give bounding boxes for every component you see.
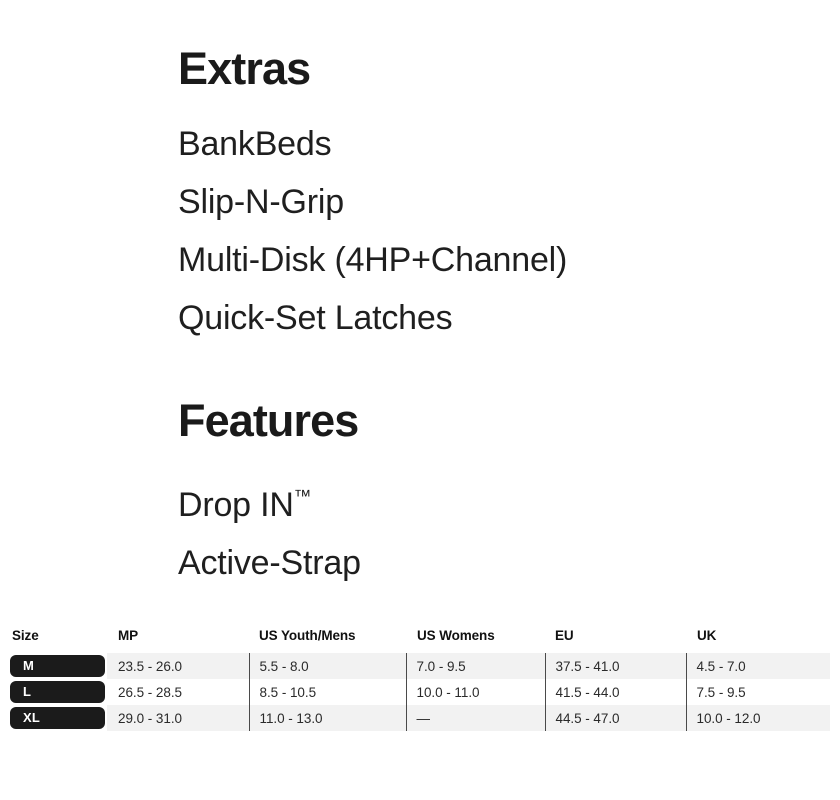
eu-cell: 41.5 - 44.0	[545, 679, 686, 705]
list-item: Multi-Disk (4HP+Channel)	[178, 231, 567, 289]
column-header-us-youth-mens: US Youth/Mens	[249, 628, 406, 653]
size-badge: L	[10, 681, 105, 703]
features-section: Features Drop IN™ Active-Strap	[178, 398, 361, 592]
size-badge: XL	[10, 707, 105, 729]
eu-cell: 44.5 - 47.0	[545, 705, 686, 731]
features-heading: Features	[178, 398, 361, 443]
mp-cell: 29.0 - 31.0	[107, 705, 249, 731]
table-row: XL 29.0 - 31.0 11.0 - 13.0 — 44.5 - 47.0…	[0, 705, 830, 731]
mp-cell: 26.5 - 28.5	[107, 679, 249, 705]
list-item: Active-Strap	[178, 534, 361, 592]
us-womens-cell: —	[406, 705, 545, 731]
extras-list: BankBeds Slip-N-Grip Multi-Disk (4HP+Cha…	[178, 115, 567, 347]
us-youth-mens-cell: 5.5 - 8.0	[249, 653, 406, 679]
table-header-row: Size MP US Youth/Mens US Womens EU UK	[0, 628, 830, 653]
eu-cell: 37.5 - 41.0	[545, 653, 686, 679]
uk-cell: 10.0 - 12.0	[686, 705, 830, 731]
size-cell: L	[0, 679, 107, 705]
size-cell: M	[0, 653, 107, 679]
list-item: Slip-N-Grip	[178, 173, 567, 231]
uk-cell: 4.5 - 7.0	[686, 653, 830, 679]
mp-cell: 23.5 - 26.0	[107, 653, 249, 679]
extras-heading: Extras	[178, 46, 567, 91]
table-row: L 26.5 - 28.5 8.5 - 10.5 10.0 - 11.0 41.…	[0, 679, 830, 705]
column-header-eu: EU	[545, 628, 686, 653]
column-header-size: Size	[0, 628, 107, 653]
size-table-body: M 23.5 - 26.0 5.5 - 8.0 7.0 - 9.5 37.5 -…	[0, 653, 830, 731]
column-header-mp: MP	[107, 628, 249, 653]
list-item: BankBeds	[178, 115, 567, 173]
table-row: M 23.5 - 26.0 5.5 - 8.0 7.0 - 9.5 37.5 -…	[0, 653, 830, 679]
uk-cell: 7.5 - 9.5	[686, 679, 830, 705]
list-item: Quick-Set Latches	[178, 289, 567, 347]
size-table: Size MP US Youth/Mens US Womens EU UK M …	[0, 628, 830, 731]
us-womens-cell: 10.0 - 11.0	[406, 679, 545, 705]
us-youth-mens-cell: 8.5 - 10.5	[249, 679, 406, 705]
trademark-icon: ™	[294, 486, 312, 506]
us-youth-mens-cell: 11.0 - 13.0	[249, 705, 406, 731]
column-header-uk: UK	[686, 628, 830, 653]
us-womens-cell: 7.0 - 9.5	[406, 653, 545, 679]
size-cell: XL	[0, 705, 107, 731]
features-list: Drop IN™ Active-Strap	[178, 467, 361, 592]
extras-section: Extras BankBeds Slip-N-Grip Multi-Disk (…	[178, 46, 567, 347]
column-header-us-womens: US Womens	[406, 628, 545, 653]
size-badge: M	[10, 655, 105, 677]
size-chart: Size MP US Youth/Mens US Womens EU UK M …	[0, 628, 840, 731]
feature-drop-in-label: Drop IN	[178, 486, 294, 524]
size-table-head: Size MP US Youth/Mens US Womens EU UK	[0, 628, 830, 653]
list-item: Drop IN™	[178, 467, 361, 534]
